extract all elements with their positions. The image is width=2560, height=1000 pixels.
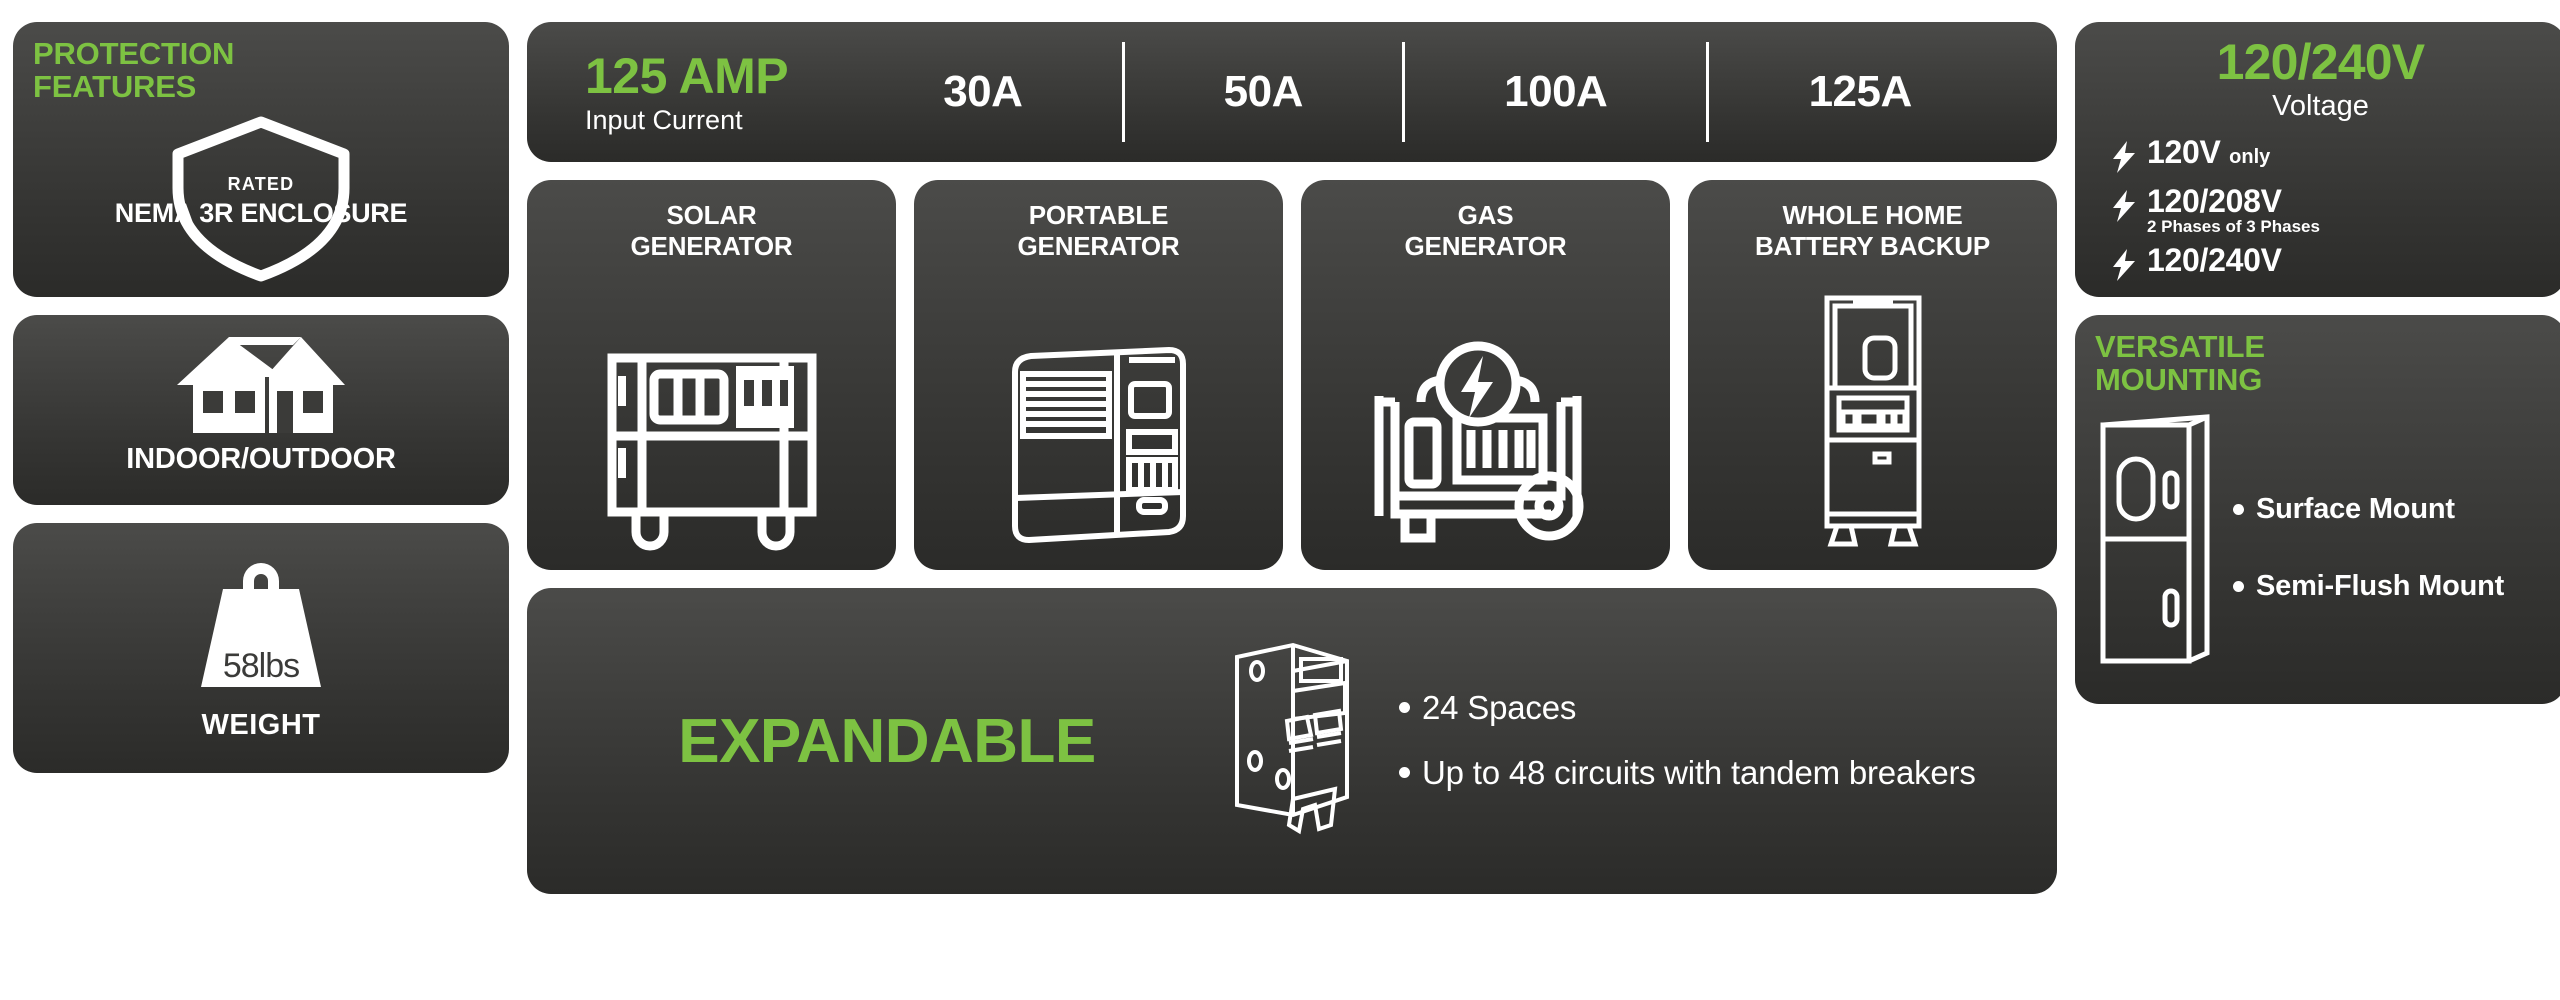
voltage-options-list: 120V only 120/208V 2 Phases of 3 Phases <box>2075 135 2560 286</box>
voltage-option: 120V only <box>2147 135 2270 170</box>
generator-title-line2: GENERATOR <box>914 231 1283 262</box>
generator-title-line1: PORTABLE <box>914 200 1283 231</box>
expandable-item-text: Up to 48 circuits with tandem breakers <box>1422 754 1976 793</box>
generator-title-line2: GENERATOR <box>1301 231 1670 262</box>
bolt-icon <box>2113 243 2147 286</box>
expandable-card: EXPANDABLE <box>527 588 2057 894</box>
middle-column: 125 AMP Input Current 30A 50A 100A 125A … <box>527 22 2057 978</box>
voltage-option-main: 120/208V <box>2147 183 2282 219</box>
mounting-body: Surface Mount Semi-Flush Mount <box>2095 411 2560 686</box>
bullet-icon <box>1399 767 1410 778</box>
mounting-item-text: Semi-Flush Mount <box>2256 569 2504 604</box>
input-current-subtitle: Input Current <box>585 107 788 134</box>
mounting-card: VERSATILE MOUNTING <box>2075 315 2560 704</box>
rated-label: RATED <box>13 174 509 195</box>
bolt-icon <box>2113 184 2147 227</box>
bullet-icon <box>1399 702 1410 713</box>
mounting-items-list: Surface Mount Semi-Flush Mount <box>2233 492 2504 604</box>
generator-title-line2: BATTERY BACKUP <box>1688 231 2057 262</box>
voltage-option-note: 2 Phases of 3 Phases <box>2147 217 2320 237</box>
circuit-breaker-icon-wrap <box>1227 639 1357 844</box>
generator-title: SOLAR GENERATOR <box>527 200 896 261</box>
generator-cards-row: SOLAR GENERATOR <box>527 180 2057 570</box>
mounting-title-line1: VERSATILE <box>2095 331 2560 364</box>
list-item: Up to 48 circuits with tandem breakers <box>1399 754 1976 793</box>
amp-divider <box>1402 42 1405 142</box>
indoor-outdoor-card: INDOOR/OUTDOOR <box>13 315 509 505</box>
weight-label: WEIGHT <box>13 709 509 742</box>
solar-generator-icon <box>596 336 828 552</box>
amp-option-30a[interactable]: 30A <box>917 67 1048 117</box>
list-item: 120/240V <box>2113 243 2560 286</box>
indoor-outdoor-label: INDOOR/OUTDOOR <box>13 443 509 476</box>
mounting-item-text: Surface Mount <box>2256 492 2455 527</box>
generator-card-portable[interactable]: PORTABLE GENERATOR <box>914 180 1283 570</box>
amp-options-list: 30A 50A 100A 125A <box>844 42 2011 142</box>
generator-card-battery-backup[interactable]: WHOLE HOME BATTERY BACKUP <box>1688 180 2057 570</box>
bullet-icon <box>2233 504 2244 515</box>
protection-title: PROTECTION FEATURES <box>33 38 489 104</box>
input-current-headline: 125 AMP <box>585 51 788 101</box>
expandable-item-text: 24 Spaces <box>1422 689 1576 728</box>
input-current-card: 125 AMP Input Current 30A 50A 100A 125A <box>527 22 2057 162</box>
voltage-header: 120/240V Voltage <box>2075 36 2560 123</box>
amp-divider <box>1122 42 1125 142</box>
generator-card-solar[interactable]: SOLAR GENERATOR <box>527 180 896 570</box>
generator-title-line1: WHOLE HOME <box>1688 200 2057 231</box>
list-item: 24 Spaces <box>1399 689 1976 728</box>
weight-card: 58lbs WEIGHT <box>13 523 509 773</box>
gas-generator-icon-wrap <box>1301 340 1670 552</box>
generator-card-gas[interactable]: GAS GENERATOR <box>1301 180 1670 570</box>
list-item: Semi-Flush Mount <box>2233 569 2504 604</box>
voltage-card: 120/240V Voltage 120V only <box>2075 22 2560 297</box>
voltage-option: 120/208V 2 Phases of 3 Phases <box>2147 184 2320 237</box>
voltage-option-main: 120V only <box>2147 134 2270 170</box>
expandable-items-list: 24 Spaces Up to 48 circuits with tandem … <box>1399 689 1976 793</box>
voltage-option-value: 120/240V <box>2147 242 2282 278</box>
portable-generator-icon <box>1003 340 1195 552</box>
amp-option-125a[interactable]: 125A <box>1783 67 1938 117</box>
voltage-option: 120/240V <box>2147 243 2282 278</box>
list-item: Surface Mount <box>2233 492 2504 527</box>
voltage-option-qualifier: only <box>2229 146 2270 168</box>
input-current-main: 125 AMP Input Current <box>585 51 788 134</box>
list-item: 120V only <box>2113 135 2560 178</box>
circuit-breaker-icon <box>1227 639 1357 839</box>
list-item: 120/208V 2 Phases of 3 Phases <box>2113 184 2560 237</box>
enclosure-box-icon-wrap <box>2095 411 2215 686</box>
house-icon <box>173 333 349 441</box>
mounting-title-line2: MOUNTING <box>2095 364 2560 397</box>
enclosure-box-icon <box>2095 411 2215 681</box>
amp-divider <box>1706 42 1709 142</box>
protection-title-line1: PROTECTION <box>33 38 489 71</box>
solar-generator-icon-wrap <box>527 336 896 552</box>
voltage-subtitle: Voltage <box>2075 90 2560 123</box>
house-icon-wrap <box>13 333 509 441</box>
generator-title: GAS GENERATOR <box>1301 200 1670 261</box>
portable-generator-icon-wrap <box>914 340 1283 552</box>
battery-backup-icon-wrap <box>1688 292 2057 552</box>
right-column: 120/240V Voltage 120V only <box>2075 22 2560 978</box>
nema-enclosure-label: NEMA 3R ENCLOSURE <box>13 198 509 229</box>
protection-title-line2: FEATURES <box>33 71 489 104</box>
bullet-icon <box>2233 581 2244 592</box>
amp-option-50a[interactable]: 50A <box>1198 67 1329 117</box>
weight-value: 58lbs <box>13 647 509 686</box>
generator-title: PORTABLE GENERATOR <box>914 200 1283 261</box>
protection-features-card: PROTECTION FEATURES RATED NEMA 3R ENCLOS… <box>13 22 509 297</box>
generator-title: WHOLE HOME BATTERY BACKUP <box>1688 200 2057 261</box>
expandable-title: EXPANDABLE <box>567 706 1207 777</box>
generator-title-line1: GAS <box>1301 200 1670 231</box>
bolt-icon <box>2113 135 2147 178</box>
generator-title-line1: SOLAR <box>527 200 896 231</box>
voltage-option-value: 120V <box>2147 134 2221 170</box>
gas-generator-icon <box>1365 340 1607 552</box>
generator-title-line2: GENERATOR <box>527 231 896 262</box>
amp-option-100a[interactable]: 100A <box>1478 67 1633 117</box>
feature-infographic-board: PROTECTION FEATURES RATED NEMA 3R ENCLOS… <box>0 0 2560 1000</box>
voltage-option-value: 120/208V <box>2147 183 2282 219</box>
left-column: PROTECTION FEATURES RATED NEMA 3R ENCLOS… <box>13 22 509 978</box>
mounting-title: VERSATILE MOUNTING <box>2095 331 2560 397</box>
voltage-headline: 120/240V <box>2075 36 2560 89</box>
voltage-option-main: 120/240V <box>2147 242 2282 278</box>
battery-backup-icon <box>1813 292 1933 552</box>
